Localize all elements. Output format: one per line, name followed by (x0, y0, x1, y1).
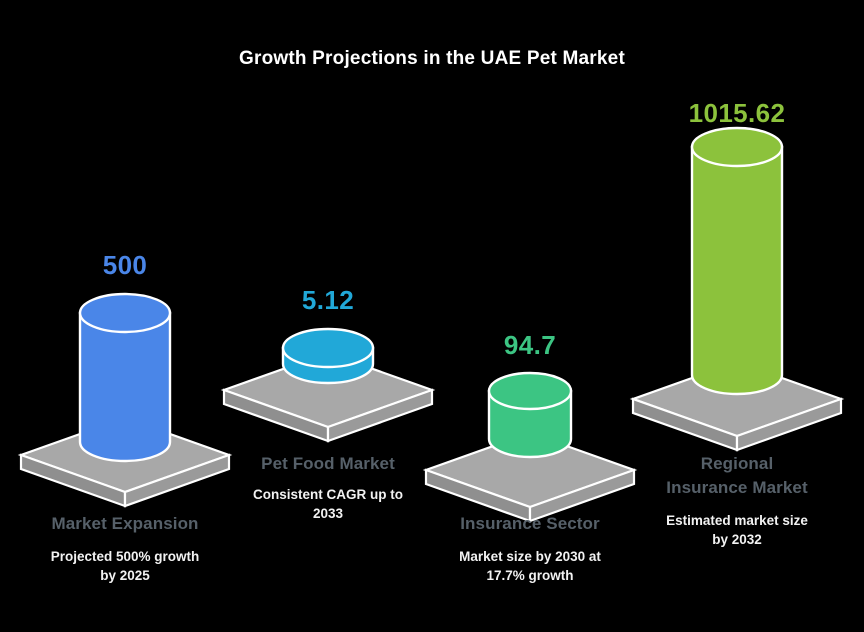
description-line2-0: by 2025 (20, 566, 230, 585)
cylinder-top-0 (80, 294, 170, 332)
column-graphic-0 (10, 200, 240, 460)
description-line2-1: 2033 (223, 504, 433, 523)
category-label-3-line1: Regional (622, 452, 852, 476)
category-label-2: Insurance Sector (415, 512, 645, 536)
description-line1-0: Projected 500% growth (20, 547, 230, 566)
category-label-1: Pet Food Market (213, 452, 443, 476)
page-title: Growth Projections in the UAE Pet Market (0, 46, 864, 72)
cylinder-top-1 (283, 329, 373, 367)
category-label-0: Market Expansion (10, 512, 240, 536)
description-line1-3: Estimated market size (632, 511, 842, 530)
description-line1-1: Consistent CAGR up to (223, 485, 433, 504)
description-line2-2: 17.7% growth (425, 566, 635, 585)
cylinder-top-2 (489, 373, 571, 409)
column-graphic-2 (415, 200, 645, 460)
cylinder-body-0 (80, 313, 170, 461)
description-line1-2: Market size by 2030 at (425, 547, 635, 566)
cylinder-top-3 (692, 128, 782, 166)
description-line2-3: by 2032 (632, 530, 842, 549)
column-graphic-1 (213, 200, 443, 460)
category-label-3-line2: Insurance Market (622, 476, 852, 500)
chart-canvas: Growth Projections in the UAE Pet Market… (0, 0, 864, 632)
cylinder-body-3 (692, 147, 782, 394)
column-graphic-3 (622, 120, 852, 420)
